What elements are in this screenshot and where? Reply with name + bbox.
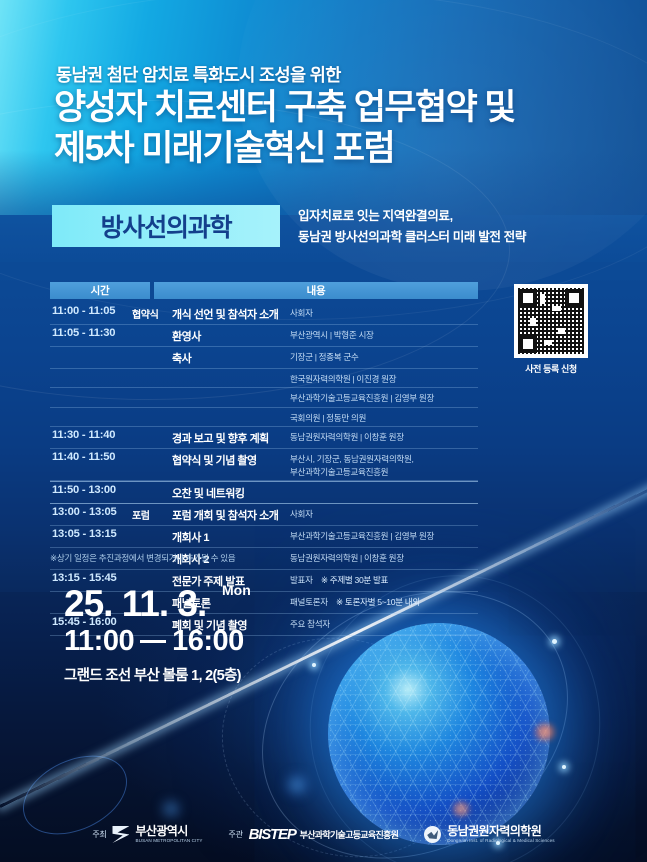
cell-time: 11:05 - 11:30: [50, 325, 132, 341]
event-date: 25. 11. 3.: [64, 583, 206, 625]
cell-time: [50, 388, 132, 392]
subtitle-block: 입자치료로 잇는 지역완결의료, 동남권 방사선의과학 클러스터 미래 발전 전…: [298, 206, 618, 249]
cell-detail: 한국원자력의학원 | 이진경 원장: [290, 369, 478, 387]
event-time-range: 11:00 16:00: [64, 625, 244, 658]
subtitle-line-2: 동남권 방사선의과학 클러스터 미래 발전 전략: [298, 227, 618, 248]
cell-item: 환영사: [172, 325, 290, 346]
topic-tag-badge: 방사선의과학: [52, 205, 280, 247]
schedule-table-header: 시간 내용: [50, 282, 478, 299]
cell-time: [50, 408, 132, 412]
cell-category: 포럼: [132, 504, 172, 524]
cell-item: [172, 369, 290, 374]
host-role-label: 주최: [92, 829, 106, 840]
cell-detail: 부산과학기술고등교육진흥원 | 김영부 원장: [290, 388, 478, 406]
partner-group: 동남권원자력의학원 Dongnam Inst. of Radiological …: [424, 825, 554, 844]
organizer-role-label: 주관: [229, 829, 243, 840]
dirams-logo-icon: [424, 826, 441, 843]
cell-item: [172, 408, 290, 413]
schedule-footnote: ※상기 일정은 추진과정에서 변경되거나 추가될 수 있음: [50, 552, 235, 564]
organizer-name-kr: 부산과학기술고등교육진흥원: [300, 828, 399, 841]
cell-detail: 사회자: [290, 504, 478, 522]
partner-name-kr: 동남권원자력의학원: [447, 825, 554, 838]
partner-name-en: Dongnam Inst. of Radiological & Medical …: [447, 839, 554, 844]
table-row: 11:00 - 11:05협약식개식 선언 및 참석자 소개사회자: [50, 303, 478, 325]
table-row: 한국원자력의학원 | 이진경 원장: [50, 369, 478, 388]
qr-finder-icon: [519, 335, 537, 353]
spark-icon: [562, 765, 566, 769]
cell-detail: 주요 참석자: [290, 614, 478, 632]
event-time-end: 16:00: [172, 625, 244, 658]
event-time-start: 11:00: [64, 625, 134, 658]
table-row: 축사기장군 | 정종복 군수: [50, 347, 478, 369]
footer-logos: 주최 부산광역시 BUSAN METROPOLITAN CITY 주관 BIST…: [0, 825, 647, 844]
cell-item: 포럼 개회 및 참석자 소개: [172, 504, 290, 525]
host-name: 부산광역시 BUSAN METROPOLITAN CITY: [135, 825, 202, 844]
table-row: 11:50 - 13:00오찬 및 네트워킹: [50, 481, 478, 504]
cell-item: [172, 388, 290, 393]
cell-detail: 부산시, 기장군, 동남권원자력의학원,부산과학기술고등교육진흥원: [290, 449, 478, 480]
table-row: 11:30 - 11:40경과 보고 및 향후 계획동남권원자력의학원 | 이창…: [50, 427, 478, 449]
page-title: 양성자 치료센터 구축 업무협약 및 제5차 미래기술혁신 포럼: [54, 88, 614, 169]
cell-time: [50, 347, 132, 351]
cell-category: [132, 347, 172, 352]
host-group: 주최 부산광역시 BUSAN METROPOLITAN CITY: [92, 825, 202, 844]
bistep-logo: BISTEP 부산과학기술고등교육진흥원: [249, 826, 399, 843]
cell-detail: 부산과학기술고등교육진흥원 | 김영부 원장: [290, 526, 478, 544]
glow-blob-icon: [160, 801, 182, 817]
cell-detail: 부산광역시 | 박형준 시장: [290, 325, 478, 343]
column-header-time-label: 시간: [91, 283, 110, 298]
globe-graphic: [300, 605, 590, 862]
cell-item: 협약식 및 기념 촬영: [172, 449, 290, 470]
table-row: 국회의원 | 정동만 의원: [50, 408, 478, 427]
globe-rim-glow: [328, 623, 550, 845]
cell-item: 오찬 및 네트워킹: [172, 482, 290, 503]
cell-category: [132, 526, 172, 531]
event-poster: 동남권 첨단 암치료 특화도시 조성을 위한 양성자 치료센터 구축 업무협약 …: [0, 0, 647, 862]
cell-detail: 동남권원자력의학원 | 이창훈 원장: [290, 427, 478, 445]
subtitle-line-1: 입자치료로 잇는 지역완결의료,: [298, 206, 618, 227]
title-line-2: 제5차 미래기술혁신 포럼: [54, 129, 614, 170]
qr-finder-icon: [565, 289, 583, 307]
cell-category: [132, 482, 172, 487]
partner-name: 동남권원자력의학원 Dongnam Inst. of Radiological …: [447, 825, 554, 844]
column-header-time: 시간: [50, 282, 150, 299]
table-row: 부산과학기술고등교육진흥원 | 김영부 원장: [50, 388, 478, 407]
cell-item: 축사: [172, 347, 290, 368]
cell-detail: [290, 482, 478, 488]
glow-blob-icon: [284, 775, 310, 795]
cell-item: 개회사 1: [172, 526, 290, 547]
event-venue: 그랜드 조선 부산 볼룸 1, 2(5층): [64, 664, 241, 685]
cell-category: [132, 427, 172, 432]
qr-finder-icon: [519, 289, 537, 307]
bistep-wordmark: BISTEP: [249, 826, 296, 843]
cell-detail: 사회자: [290, 303, 478, 321]
cell-category: [132, 408, 172, 413]
energy-flare-icon: [532, 723, 558, 741]
cell-detail: 국회의원 | 정동만 의원: [290, 408, 478, 426]
host-name-kr: 부산광역시: [135, 825, 202, 838]
cell-time: [50, 369, 132, 373]
table-row: 11:40 - 11:50협약식 및 기념 촬영부산시, 기장군, 동남권원자력…: [50, 449, 478, 481]
event-day-of-week: Mon: [222, 582, 251, 598]
cell-category: 협약식: [132, 303, 172, 323]
cell-detail-note: ※ 토론자별 5~10분 내외: [328, 597, 420, 607]
organizer-group: 주관 BISTEP 부산과학기술고등교육진흥원: [229, 826, 399, 843]
cell-time: 11:40 - 11:50: [50, 449, 132, 465]
topic-tag-label: 방사선의과학: [101, 208, 232, 244]
globe-sphere: [328, 623, 550, 845]
qr-icon: [518, 288, 584, 354]
cell-time: 11:50 - 13:00: [50, 482, 132, 498]
cell-category: [132, 449, 172, 454]
host-name-en: BUSAN METROPOLITAN CITY: [135, 839, 202, 844]
table-row: 13:05 - 13:15개회사 1부산과학기술고등교육진흥원 | 김영부 원장: [50, 526, 478, 548]
cell-category: [132, 570, 172, 575]
table-row: 13:00 - 13:05포럼포럼 개회 및 참석자 소개사회자: [50, 504, 478, 526]
cell-detail: 패널토론자 ※ 토론자별 5~10분 내외: [290, 592, 478, 610]
cell-detail: 기장군 | 정종복 군수: [290, 347, 478, 365]
cell-detail: 발표자 ※ 주제별 30분 발표: [290, 570, 478, 588]
column-header-content: 내용: [154, 282, 478, 299]
cell-item: 경과 보고 및 향후 계획: [172, 427, 290, 448]
eyebrow-text: 동남권 첨단 암치료 특화도시 조성을 위한: [56, 62, 341, 87]
energy-flare-icon: [450, 801, 472, 817]
spark-icon: [552, 639, 557, 644]
cell-detail-note: ※ 주제별 30분 발표: [313, 575, 388, 585]
qr-caption: 사전 등록 신청: [505, 362, 597, 375]
cell-time: 11:30 - 11:40: [50, 427, 132, 443]
cell-time: 13:05 - 13:15: [50, 526, 132, 542]
cell-category: [132, 325, 172, 330]
busan-city-logo-icon: [112, 826, 129, 843]
registration-qr-code[interactable]: [514, 284, 588, 358]
cell-detail: 동남권원자력의학원 | 이창훈 원장: [290, 548, 478, 566]
title-line-1: 양성자 치료센터 구축 업무협약 및: [54, 88, 515, 127]
column-header-content-label: 내용: [307, 283, 326, 298]
cell-category: [132, 388, 172, 393]
cell-item: 개식 선언 및 참석자 소개: [172, 303, 290, 324]
cell-time: 13:00 - 13:05: [50, 504, 132, 520]
time-range-dash-icon: [140, 640, 166, 643]
spark-icon: [312, 663, 316, 667]
table-row: 11:05 - 11:30환영사부산광역시 | 박형준 시장: [50, 325, 478, 347]
cell-category: [132, 369, 172, 374]
cell-time: 11:00 - 11:05: [50, 303, 132, 319]
